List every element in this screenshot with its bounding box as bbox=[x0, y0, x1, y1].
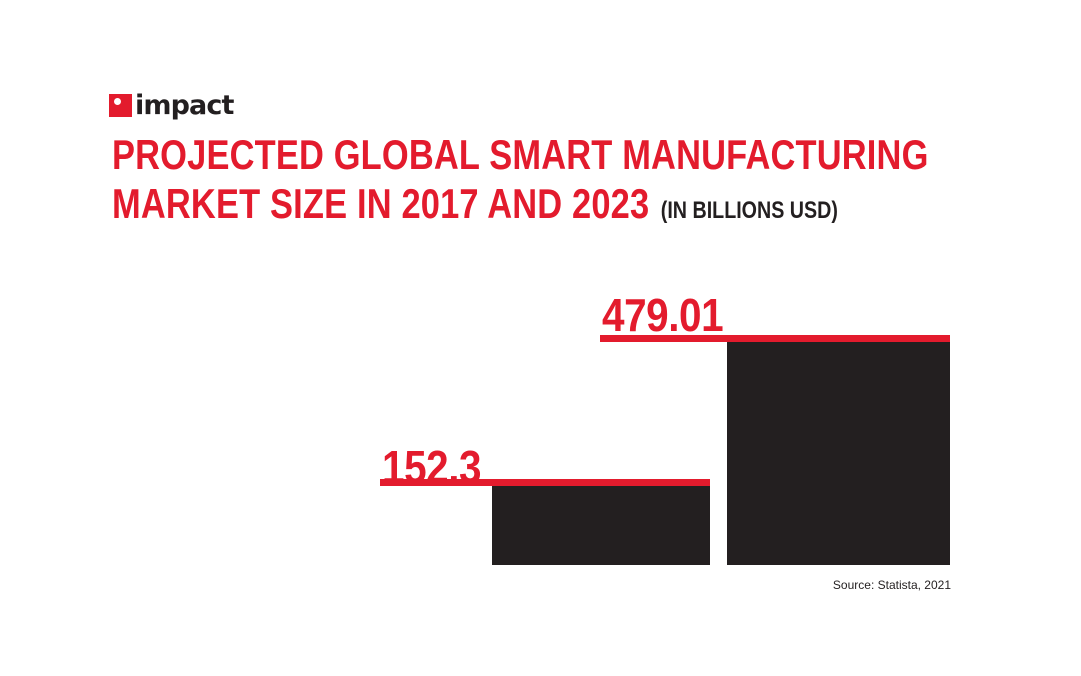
bar-value-label-2023: 479.01 bbox=[602, 292, 723, 338]
chart-title-line-2: MARKET SIZE IN 2017 AND 2023 bbox=[112, 180, 649, 227]
chart-title-line-1: PROJECTED GLOBAL SMART MANUFACTURING bbox=[112, 132, 817, 177]
impact-logo-mark-icon bbox=[109, 94, 132, 117]
chart-title-block: PROJECTED GLOBAL SMART MANUFACTURING MAR… bbox=[112, 132, 972, 233]
infographic-canvas: impact PROJECTED GLOBAL SMART MANUFACTUR… bbox=[0, 0, 1081, 676]
chart-unit-note: (IN BILLIONS USD) bbox=[661, 197, 838, 224]
bar-top-rule-2017 bbox=[380, 479, 710, 486]
bar-rect-2023[interactable] bbox=[727, 342, 950, 565]
brand-logo: impact bbox=[109, 90, 233, 120]
brand-logo-text: impact bbox=[135, 92, 233, 119]
source-attribution: Source: Statista, 2021 bbox=[833, 578, 951, 592]
bar-rect-2017[interactable] bbox=[492, 486, 710, 565]
bar-top-rule-2023 bbox=[600, 335, 950, 342]
chart-title-line-2-wrapper: MARKET SIZE IN 2017 AND 2023(IN BILLIONS… bbox=[112, 181, 817, 233]
